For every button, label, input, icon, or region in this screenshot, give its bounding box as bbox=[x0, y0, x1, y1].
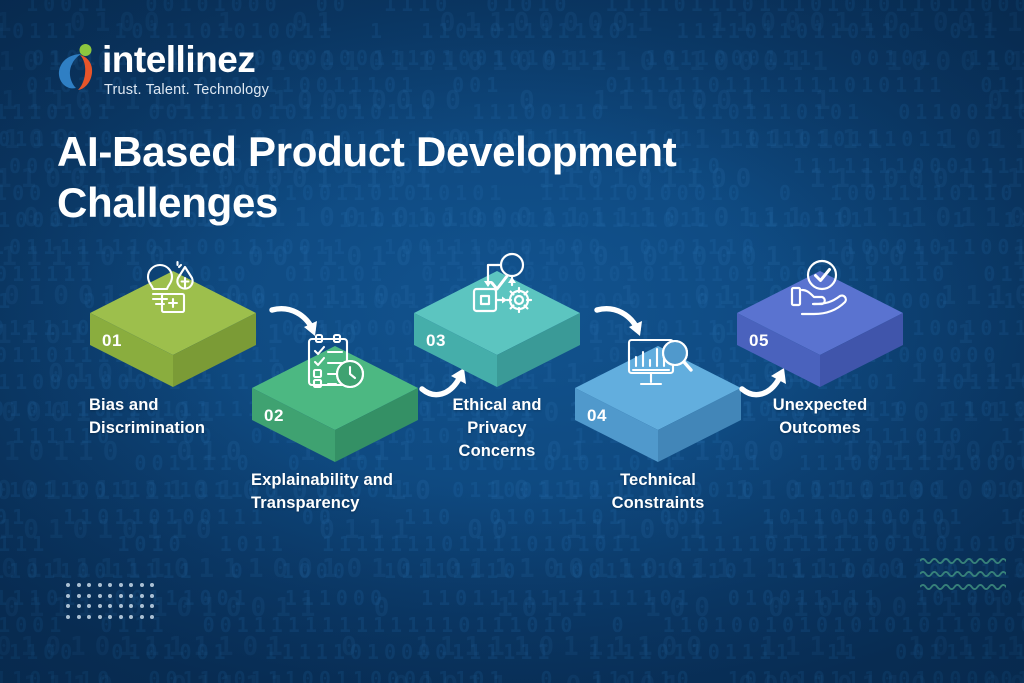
step-02-caption-line-2: Transparency bbox=[251, 494, 360, 512]
monitor-chart-magnifier-icon bbox=[623, 332, 693, 394]
grid-dot bbox=[129, 594, 133, 598]
grid-dot bbox=[108, 615, 112, 619]
grid-dot bbox=[140, 594, 144, 598]
dot-grid-decoration bbox=[66, 583, 161, 625]
grid-dot bbox=[87, 583, 91, 587]
wave-lines-svg bbox=[920, 556, 1006, 601]
step-02-caption-line-1: Explainability and bbox=[251, 471, 393, 489]
grid-dot bbox=[98, 594, 102, 598]
grid-dot bbox=[98, 583, 102, 587]
lightbulb-ink-drop-icon bbox=[136, 259, 208, 321]
grid-dot bbox=[150, 583, 154, 587]
binary-row: 101 110110100111 00 110 01011101 0001 10… bbox=[0, 507, 1024, 527]
wave-lines-decoration bbox=[920, 556, 1006, 606]
step-02-number: 02 bbox=[264, 406, 284, 426]
step-04-number: 04 bbox=[587, 406, 607, 426]
grid-dot bbox=[98, 604, 102, 608]
binary-row-faint: 010101111101 0 111110111100 1111 10111 0… bbox=[0, 634, 1024, 660]
binary-row: 110110011111 0 1000 11111110 10011111110… bbox=[0, 561, 1024, 581]
grid-dot bbox=[66, 594, 70, 598]
grid-dot bbox=[140, 583, 144, 587]
binary-row-faint: 1110 01111 00011 01001 00010110 00011110… bbox=[0, 673, 1024, 683]
process-flow-gear-icon bbox=[464, 249, 536, 317]
grid-dot bbox=[87, 604, 91, 608]
grid-dot bbox=[150, 615, 154, 619]
hand-check-circle-icon bbox=[787, 259, 859, 317]
step-04-caption-line-1: Technical bbox=[620, 471, 696, 489]
grid-dot bbox=[98, 615, 102, 619]
grid-dot bbox=[108, 594, 112, 598]
page-title: AI-Based Product Development Challenges bbox=[57, 126, 777, 228]
step-05-caption-line-2: Outcomes bbox=[779, 419, 861, 437]
binary-row-faint: 00111111010101 10 10111110 1101101010000… bbox=[0, 478, 1024, 504]
step-03-caption-line-2: Privacy bbox=[467, 419, 526, 437]
step-01-caption-line-2: Discrimination bbox=[89, 419, 205, 437]
grid-dot bbox=[150, 604, 154, 608]
grid-dot bbox=[77, 583, 81, 587]
grid-dot bbox=[129, 583, 133, 587]
step-01-caption-line-1: Bias and bbox=[89, 396, 159, 414]
grid-dot bbox=[150, 594, 154, 598]
grid-dot bbox=[119, 583, 123, 587]
grid-dot bbox=[140, 604, 144, 608]
grid-dot bbox=[87, 615, 91, 619]
grid-dot bbox=[87, 594, 91, 598]
grid-dot bbox=[66, 604, 70, 608]
grid-dot bbox=[66, 583, 70, 587]
grid-dot bbox=[77, 604, 81, 608]
infographic-canvas: 10011 00101000 00 1110 01010 11110111011… bbox=[0, 0, 1024, 683]
grid-dot bbox=[119, 615, 123, 619]
checklist-clock-icon bbox=[302, 330, 368, 394]
step-05-caption-line-1: Unexpected bbox=[773, 396, 868, 414]
step-02-caption: Explainability and Transparency bbox=[251, 469, 471, 515]
step-04-caption-line-2: Constraints bbox=[612, 494, 705, 512]
title-line-2: Challenges bbox=[57, 179, 278, 226]
step-03-caption: Ethical and Privacy Concerns bbox=[402, 394, 592, 463]
binary-row-faint: 0101010110 0111 00 111001 11111100 1 0 1… bbox=[0, 517, 1024, 543]
brand-logo[interactable]: intellinez Trust. Talent. Technology bbox=[56, 38, 286, 98]
logo-wordmark: intellinez bbox=[102, 38, 255, 82]
step-01-number: 01 bbox=[102, 331, 122, 351]
step-04-caption: Technical Constraints bbox=[563, 469, 753, 515]
step-03-number: 03 bbox=[426, 331, 446, 351]
grid-dot bbox=[140, 615, 144, 619]
intellinez-leaf-logo-icon bbox=[56, 42, 100, 92]
step-03-caption-line-1: Ethical and bbox=[452, 396, 541, 414]
logo-tagline: Trust. Talent. Technology bbox=[104, 82, 269, 98]
grid-dot bbox=[129, 604, 133, 608]
step-05-caption: Unexpected Outcomes bbox=[721, 394, 919, 440]
binary-row-faint: 1 0100 1 01 011000001 110001101001100010… bbox=[0, 10, 1024, 36]
binary-row: 11100 0101001 11111010000111111 11110110… bbox=[0, 642, 1024, 662]
binary-row: 11101110 001100111001100011101 0 111110 … bbox=[0, 669, 1024, 683]
step-05-number: 05 bbox=[749, 331, 769, 351]
binary-row: 01110101 00111101011010111 11100110 1110… bbox=[0, 102, 1024, 122]
grid-dot bbox=[108, 604, 112, 608]
binary-row: 10011 00101000 00 1110 01010 11110111011… bbox=[0, 0, 1024, 14]
binary-row: 01011001101111100 010011 01100111011 100… bbox=[0, 480, 1024, 500]
binary-row: 10111 1010 1011 1111111011110101011 1111… bbox=[0, 534, 1024, 554]
grid-dot bbox=[129, 615, 133, 619]
step-03-caption-line-3: Concerns bbox=[459, 442, 536, 460]
binary-row-faint: 1001111110111001010101110011001111111101… bbox=[0, 556, 1024, 582]
grid-dot bbox=[66, 615, 70, 619]
title-line-1: AI-Based Product Development bbox=[57, 128, 676, 175]
grid-dot bbox=[119, 594, 123, 598]
grid-dot bbox=[119, 604, 123, 608]
grid-dot bbox=[108, 583, 112, 587]
grid-dot bbox=[77, 615, 81, 619]
step-01-caption: Bias and Discrimination bbox=[89, 394, 269, 440]
grid-dot bbox=[77, 594, 81, 598]
